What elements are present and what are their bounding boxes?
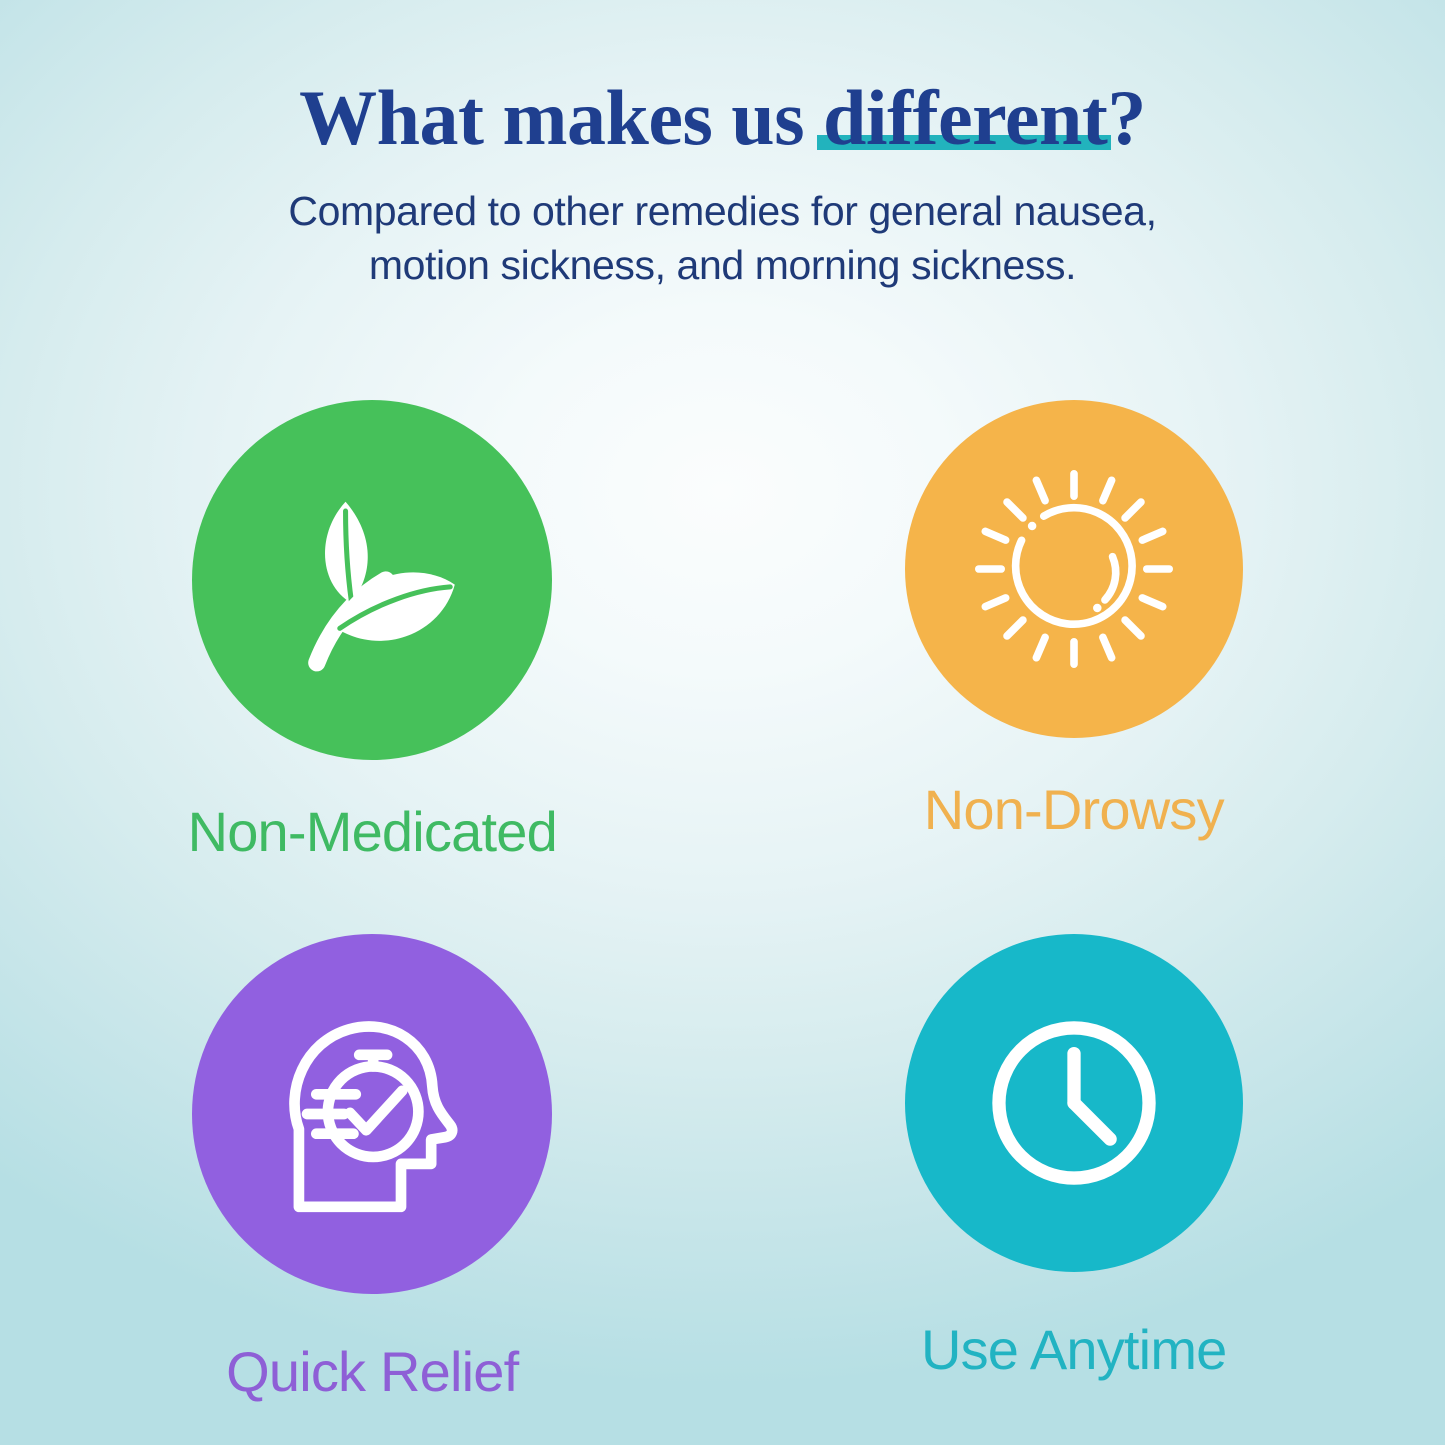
page-title-highlight: different — [823, 78, 1107, 158]
icon-badge-non-medicated — [192, 400, 552, 760]
head-stopwatch-icon — [256, 998, 488, 1230]
header: What makes us different? Compared to oth… — [0, 78, 1445, 292]
page-subtitle: Compared to other remedies for general n… — [183, 184, 1263, 292]
feature-label-use-anytime: Use Anytime — [921, 1322, 1227, 1378]
clock-icon — [979, 1008, 1169, 1198]
infographic-root: What makes us different? Compared to oth… — [0, 0, 1445, 1445]
page-title: What makes us different? — [0, 78, 1445, 158]
icon-badge-quick-relief — [192, 934, 552, 1294]
feature-item-quick-relief: Quick Relief — [0, 920, 723, 1440]
feature-item-non-drowsy: Non-Drowsy — [723, 400, 1445, 920]
page-subtitle-line-2: motion sickness, and morning sickness. — [183, 238, 1263, 292]
icon-badge-non-drowsy — [905, 400, 1243, 738]
icon-badge-use-anytime — [905, 934, 1243, 1272]
page-subtitle-line-1: Compared to other remedies for general n… — [183, 184, 1263, 238]
leaf-icon — [257, 465, 487, 695]
feature-label-non-medicated: Non-Medicated — [188, 804, 557, 860]
page-title-prefix: What makes us — [299, 74, 823, 161]
feature-label-non-drowsy: Non-Drowsy — [924, 782, 1224, 838]
page-title-suffix: ? — [1107, 74, 1146, 161]
feature-grid: Non-Medicated — [0, 400, 1445, 1440]
feature-label-quick-relief: Quick Relief — [226, 1344, 518, 1400]
feature-item-non-medicated: Non-Medicated — [0, 400, 723, 920]
sun-icon — [962, 457, 1186, 681]
feature-item-use-anytime: Use Anytime — [723, 920, 1445, 1440]
